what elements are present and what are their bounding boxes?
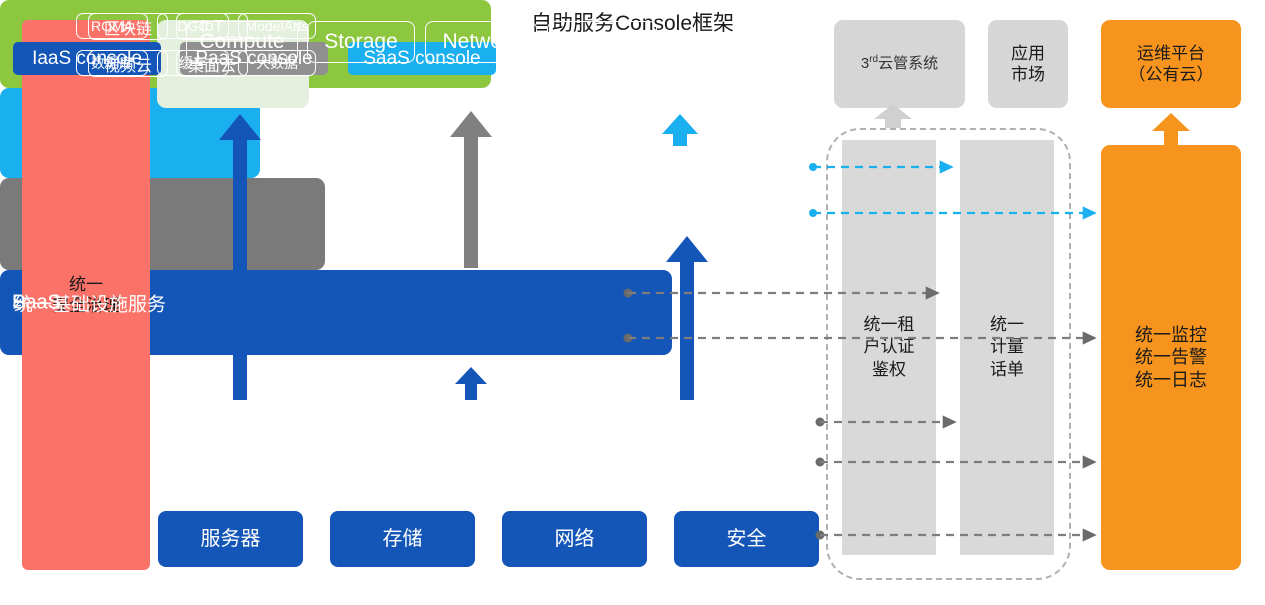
infra-service-cce[interactable]: CCE <box>547 21 657 63</box>
app-market-line2: 市场 <box>1011 64 1045 85</box>
architecture-diagram: 统一 安全治理 API网关 自助服务Console框架 IaaS console… <box>0 0 1265 605</box>
infra-service-compute[interactable]: Compute <box>186 21 298 63</box>
arrow-paas-to-console <box>450 111 492 268</box>
third-party-cloud-mgmt-box: 3rd云管系统 <box>834 20 965 108</box>
ops-platform-line1: 运维平台 <box>1129 43 1214 64</box>
unified-metering-billing-pillar: 统一 计量 话单 <box>960 140 1054 555</box>
resource-box-network[interactable]: 网络 <box>502 511 647 567</box>
third-party-label: 3rd云管系统 <box>861 54 938 74</box>
unified-monitoring-panel: 统一监控 统一告警 统一日志 <box>1101 145 1241 570</box>
app-market-box: 应用 市场 <box>988 20 1068 108</box>
arrow-ops-body-to-ops-platform <box>1152 113 1190 145</box>
resource-box-server[interactable]: 服务器 <box>158 511 303 567</box>
infra-service-storage[interactable]: Storage <box>307 21 415 63</box>
pillar1-line1: 统一租 <box>864 314 915 336</box>
ops-body-line3: 统一日志 <box>1135 369 1207 392</box>
infrastructure-label: 统一基础设施服务 <box>14 289 166 316</box>
pillar1-line2: 户认证 <box>864 336 915 358</box>
third-party-suffix: 云管系统 <box>878 55 938 72</box>
unified-tenant-auth-pillar: 统一租 户认证 鉴权 <box>842 140 936 555</box>
ops-platform-line2: （公有云） <box>1129 64 1214 85</box>
infra-service-network[interactable]: Network <box>425 21 537 63</box>
paas-service-roma[interactable]: ROMA <box>76 13 148 39</box>
resource-box-storage[interactable]: 存储 <box>330 511 475 567</box>
pillar2-line3: 话单 <box>990 359 1024 381</box>
pillar2-line2: 计量 <box>990 336 1024 358</box>
paas-service-database[interactable]: 数据库 <box>76 50 148 76</box>
app-market-line1: 应用 <box>1011 43 1045 64</box>
ops-body-line2: 统一告警 <box>1135 346 1207 369</box>
arrow-infra-to-saas <box>666 236 708 400</box>
arrow-infra-to-paas <box>455 367 487 400</box>
pillar2-line1: 统一 <box>990 314 1024 336</box>
ops-body-line1: 统一监控 <box>1135 324 1207 347</box>
resource-box-security[interactable]: 安全 <box>674 511 819 567</box>
third-party-prefix: 3 <box>861 55 869 72</box>
pillar1-line3: 鉴权 <box>864 359 915 381</box>
ops-platform-public-cloud-box: 运维平台 （公有云） <box>1101 20 1241 108</box>
arrow-saas-to-saas-console <box>662 114 698 146</box>
third-party-superscript: rd <box>869 54 878 65</box>
